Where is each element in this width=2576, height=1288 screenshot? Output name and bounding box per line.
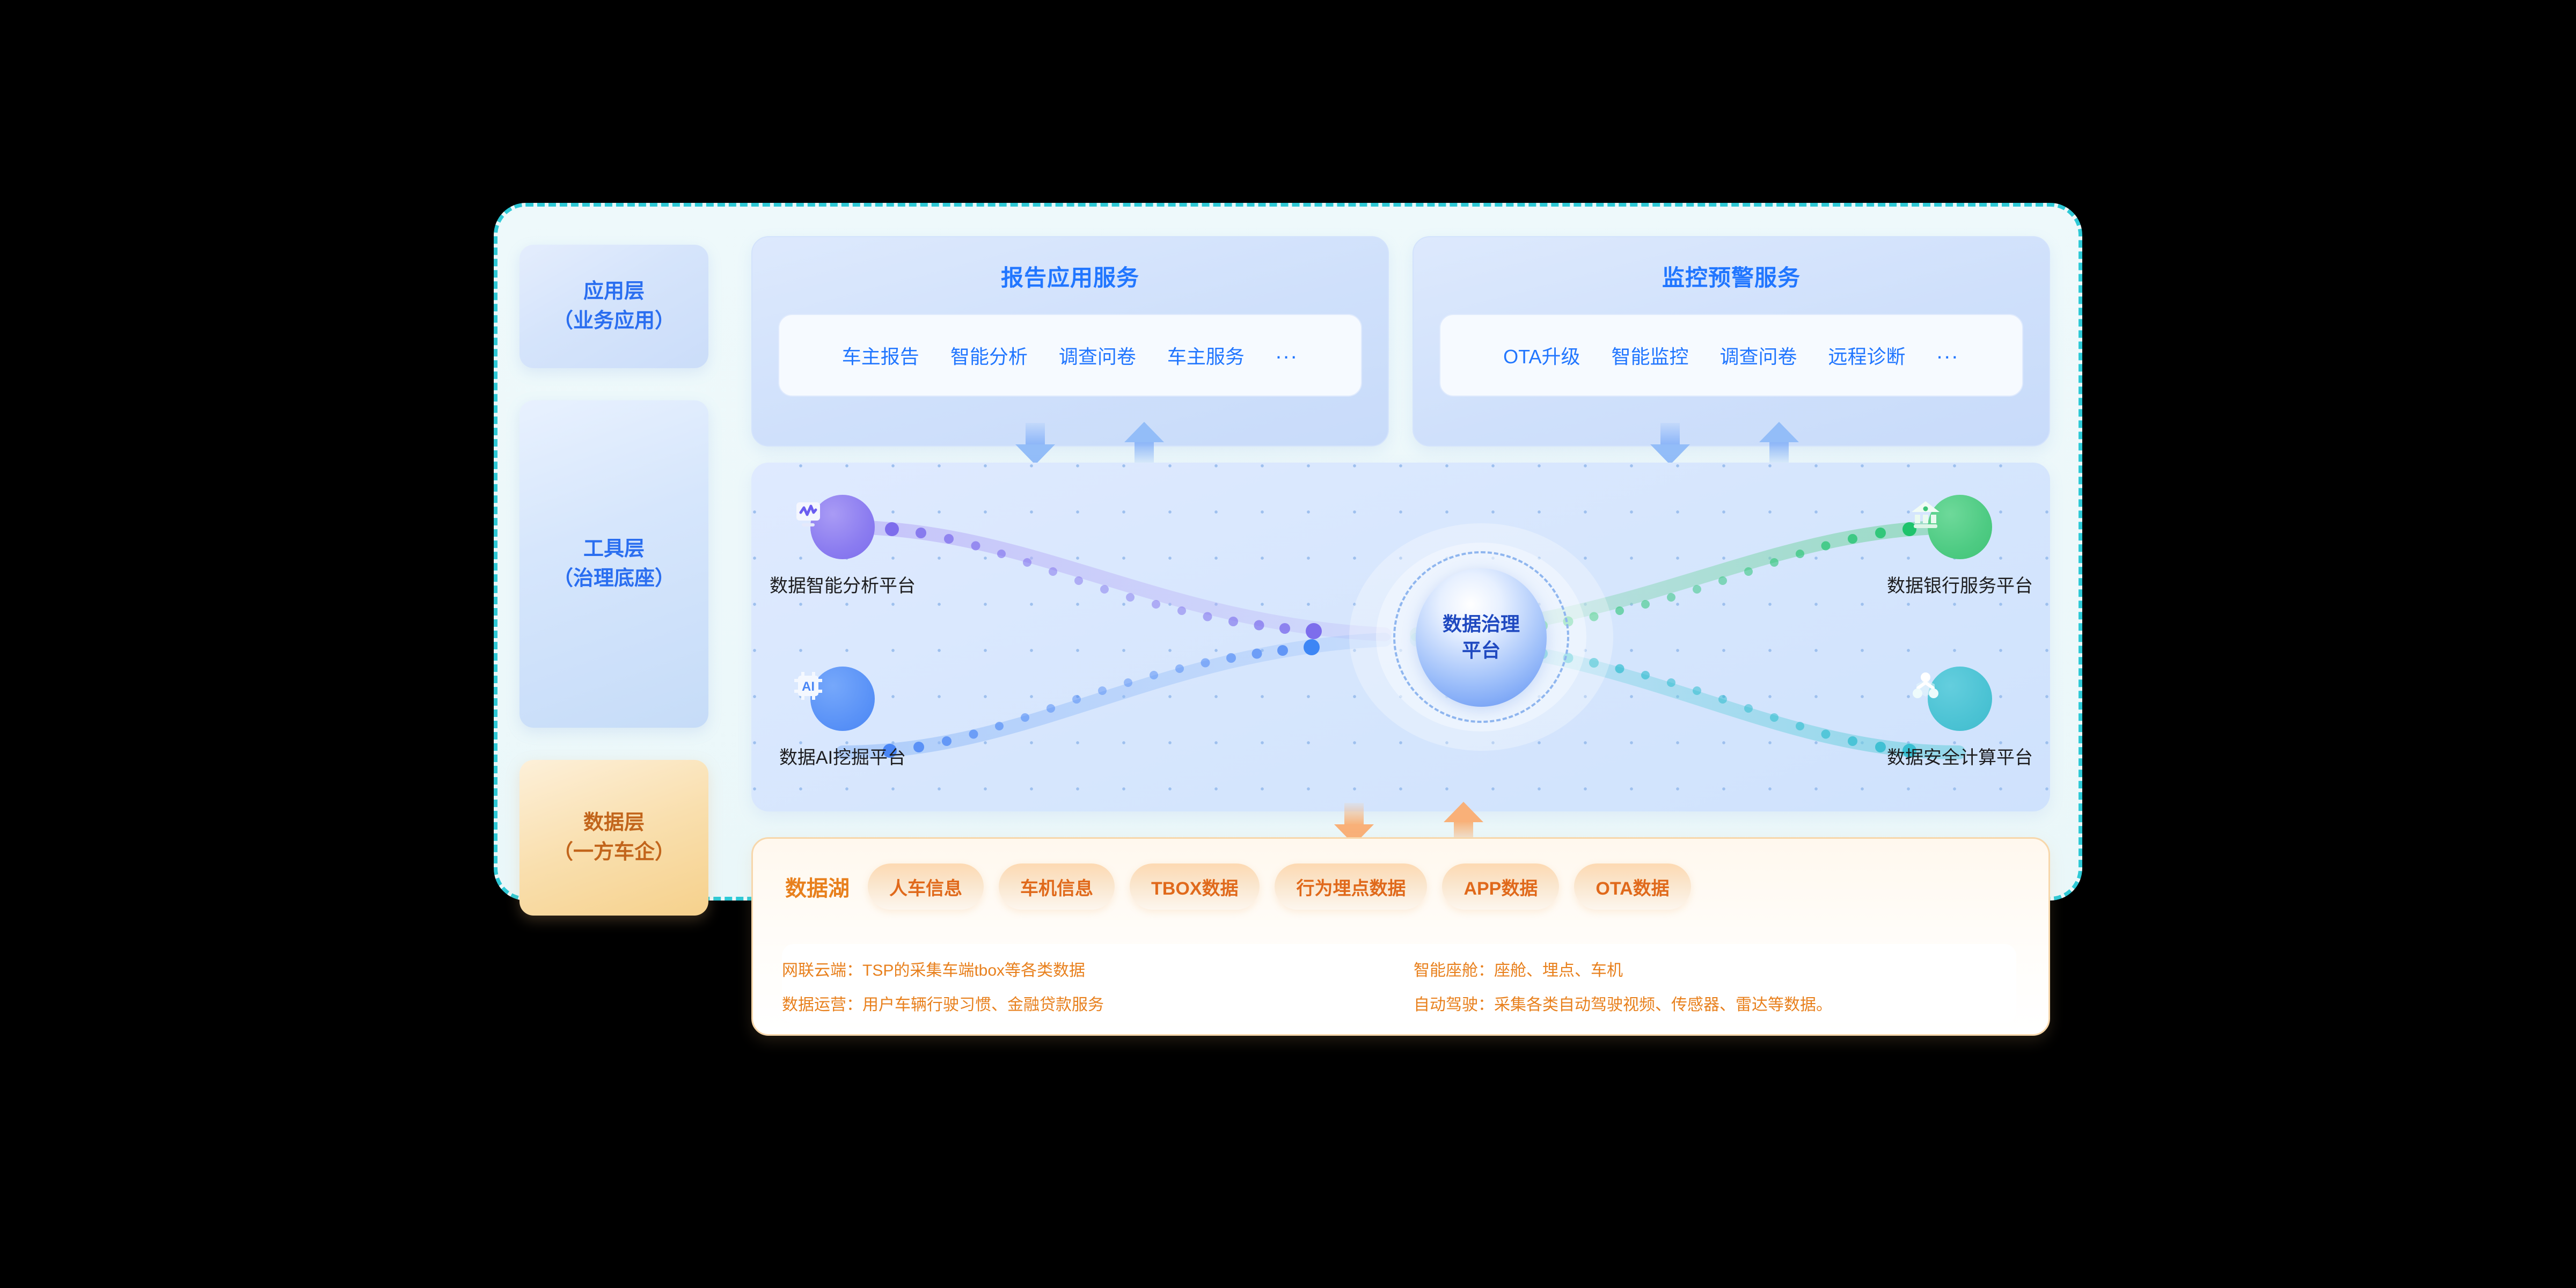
service-tag[interactable]: 智能监控 [1611, 341, 1688, 369]
service-tag-more[interactable]: ... [1276, 340, 1298, 371]
network-shield-icon [1928, 667, 1992, 731]
data-lake-row: 数据湖 人车信息 车机信息 TBOX数据 行为埋点数据 APP数据 OTA数据 [753, 839, 2048, 910]
service-card-title: 监控预警服务 [1662, 260, 1801, 292]
service-tag-more[interactable]: ... [1937, 340, 1959, 371]
ai-chip-icon: AI [810, 667, 875, 731]
hub-core: 数据治理 平台 [1416, 568, 1547, 707]
service-tag[interactable]: 调查问卷 [1059, 341, 1136, 369]
service-tag[interactable]: 调查问卷 [1719, 341, 1797, 369]
monitor-pulse-icon [810, 495, 875, 559]
service-tag-bar: 车主报告 智能分析 调查问卷 车主服务 ... [778, 314, 1362, 397]
layer-name: 应用层 [583, 277, 645, 306]
node-data-secure-computing[interactable]: 数据安全计算平台 [1906, 667, 2014, 769]
layer-name: 工具层 [583, 535, 645, 564]
note-line: 自动驾驶：采集各类自动驾驶视频、传感器、雷达等数据。 [1414, 991, 2016, 1015]
service-tag-bar: OTA升级 智能监控 调查问卷 远程诊断 ... [1439, 314, 2023, 397]
layer-rail: 应用层 （业务应用） 工具层 （治理底座） 数据层 （一方车企） [519, 245, 708, 916]
node-label: 数据AI挖掘平台 [779, 743, 906, 769]
note-line: 网联云端：TSP的采集车端tbox等各类数据 [782, 957, 1385, 980]
data-layer-card: 数据湖 人车信息 车机信息 TBOX数据 行为埋点数据 APP数据 OTA数据 … [751, 837, 2050, 1036]
data-lake-tag[interactable]: 车机信息 [999, 863, 1115, 910]
data-lake-tag[interactable]: OTA数据 [1574, 863, 1690, 910]
tool-layer-panel: 数据治理 平台 数据智能分析平台 [751, 463, 2050, 811]
service-card-report[interactable]: 报告应用服务 车主报告 智能分析 调查问卷 车主服务 ... [751, 236, 1389, 447]
arrow-up-tool-to-app [1124, 422, 1164, 464]
service-card-monitor[interactable]: 监控预警服务 OTA升级 智能监控 调查问卷 远程诊断 ... [1413, 236, 2050, 447]
data-lake-tag[interactable]: 人车信息 [868, 863, 984, 910]
notes-column-left: 网联云端：TSP的采集车端tbox等各类数据 数据运营：用户车辆行驶习惯、金融贷… [782, 948, 1385, 1023]
data-lake-tag[interactable]: APP数据 [1442, 863, 1559, 910]
bank-building-icon [1928, 495, 1992, 559]
service-tag[interactable]: 车主服务 [1167, 341, 1245, 369]
data-source-notes: 网联云端：TSP的采集车端tbox等各类数据 数据运营：用户车辆行驶习惯、金融贷… [782, 944, 2016, 1023]
node-label: 数据银行服务平台 [1887, 571, 2033, 597]
layer-chip-data[interactable]: 数据层 （一方车企） [519, 760, 708, 916]
layer-sub: （治理底座） [553, 564, 675, 594]
hub-title-line1: 数据治理 [1443, 613, 1520, 635]
diagram-canvas: 应用层 （业务应用） 工具层 （治理底座） 数据层 （一方车企） 报告应用服务 … [0, 0, 2576, 1288]
data-lake-tag[interactable]: 行为埋点数据 [1275, 863, 1427, 910]
note-line: 数据运营：用户车辆行驶习惯、金融贷款服务 [782, 991, 1385, 1015]
service-tag[interactable]: 智能分析 [950, 341, 1028, 369]
governance-platform-hub[interactable]: 数据治理 平台 [1401, 557, 1562, 718]
node-label: 数据安全计算平台 [1887, 743, 2033, 769]
arrow-down-app-to-tool [1015, 423, 1055, 465]
arrow-up-tool-to-app [1759, 422, 1799, 464]
node-data-bank-service[interactable]: 数据银行服务平台 [1906, 495, 2014, 597]
layer-name: 数据层 [583, 808, 645, 838]
layer-sub: （一方车企） [553, 838, 675, 867]
application-service-row: 报告应用服务 车主报告 智能分析 调查问卷 车主服务 ... 监控预警服务 OT… [751, 236, 2050, 447]
service-card-title: 报告应用服务 [1001, 260, 1139, 292]
arrow-down-app-to-tool [1650, 423, 1690, 465]
node-data-intelligent-analysis[interactable]: 数据智能分析平台 [789, 495, 896, 597]
note-line: 智能座舱：座舱、埋点、车机 [1414, 957, 2016, 980]
data-lake-title: 数据湖 [785, 871, 850, 902]
service-tag[interactable]: 远程诊断 [1828, 341, 1906, 369]
notes-column-right: 智能座舱：座舱、埋点、车机 自动驾驶：采集各类自动驾驶视频、传感器、雷达等数据。 [1385, 948, 2016, 1023]
node-data-ai-mining[interactable]: AI 数据AI挖掘平台 [789, 667, 896, 769]
data-lake-tag[interactable]: TBOX数据 [1130, 863, 1260, 910]
svg-text:AI: AI [802, 679, 815, 694]
service-tag[interactable]: OTA升级 [1503, 341, 1580, 369]
layer-chip-application[interactable]: 应用层 （业务应用） [519, 245, 708, 368]
node-label: 数据智能分析平台 [770, 571, 916, 597]
layer-chip-tool[interactable]: 工具层 （治理底座） [519, 400, 708, 728]
hub-title-line2: 平台 [1462, 639, 1501, 661]
layer-sub: （业务应用） [553, 306, 675, 336]
service-tag[interactable]: 车主报告 [842, 341, 919, 369]
